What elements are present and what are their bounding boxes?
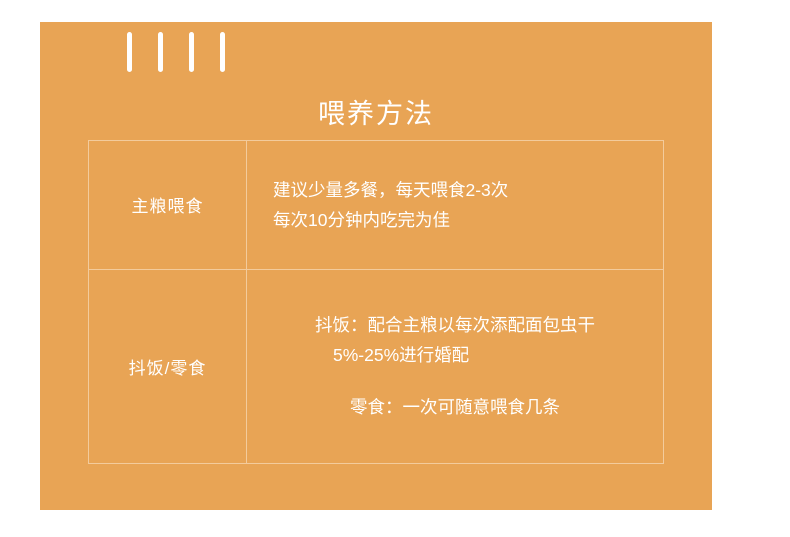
content-block: 抖饭：配合主粮以每次添配面包虫干 5%-25%进行婚配 <box>315 310 595 370</box>
table-row: 抖饭/零食 抖饭：配合主粮以每次添配面包虫干 5%-25%进行婚配 零食：一次可… <box>89 269 663 463</box>
binding-ring-icon <box>218 30 227 74</box>
row-content-mix-snack: 抖饭：配合主粮以每次添配面包虫干 5%-25%进行婚配 零食：一次可随意喂食几条 <box>247 270 663 463</box>
row-label-mix-snack: 抖饭/零食 <box>89 270 247 463</box>
binding-ring-icon <box>156 30 165 74</box>
content-block: 建议少量多餐，每天喂食2-3次 每次10分钟内吃完为佳 <box>273 175 508 235</box>
content-line: 抖饭：配合主粮以每次添配面包虫干 <box>315 315 595 335</box>
content-line: 建议少量多餐，每天喂食2-3次 <box>273 180 508 200</box>
page-root: 喂养方法 主粮喂食 建议少量多餐，每天喂食2-3次 每次10分钟内吃完为佳 抖饭… <box>0 0 790 537</box>
row-label-main-food: 主粮喂食 <box>89 141 247 269</box>
content-line: 每次10分钟内吃完为佳 <box>273 210 450 230</box>
page-title: 喂养方法 <box>40 92 712 131</box>
feeding-method-card: 喂养方法 主粮喂食 建议少量多餐，每天喂食2-3次 每次10分钟内吃完为佳 抖饭… <box>40 22 712 510</box>
content-line: 5%-25%进行婚配 <box>315 345 469 365</box>
feeding-table: 主粮喂食 建议少量多餐，每天喂食2-3次 每次10分钟内吃完为佳 抖饭/零食 抖… <box>88 140 664 464</box>
table-row: 主粮喂食 建议少量多餐，每天喂食2-3次 每次10分钟内吃完为佳 <box>89 141 663 269</box>
binding-ring-icon <box>187 30 196 74</box>
spiral-binding <box>125 30 265 78</box>
content-block: 零食：一次可随意喂食几条 <box>350 392 560 422</box>
content-line: 零食：一次可随意喂食几条 <box>350 397 560 417</box>
row-content-main-food: 建议少量多餐，每天喂食2-3次 每次10分钟内吃完为佳 <box>247 141 663 269</box>
binding-ring-icon <box>125 30 134 74</box>
